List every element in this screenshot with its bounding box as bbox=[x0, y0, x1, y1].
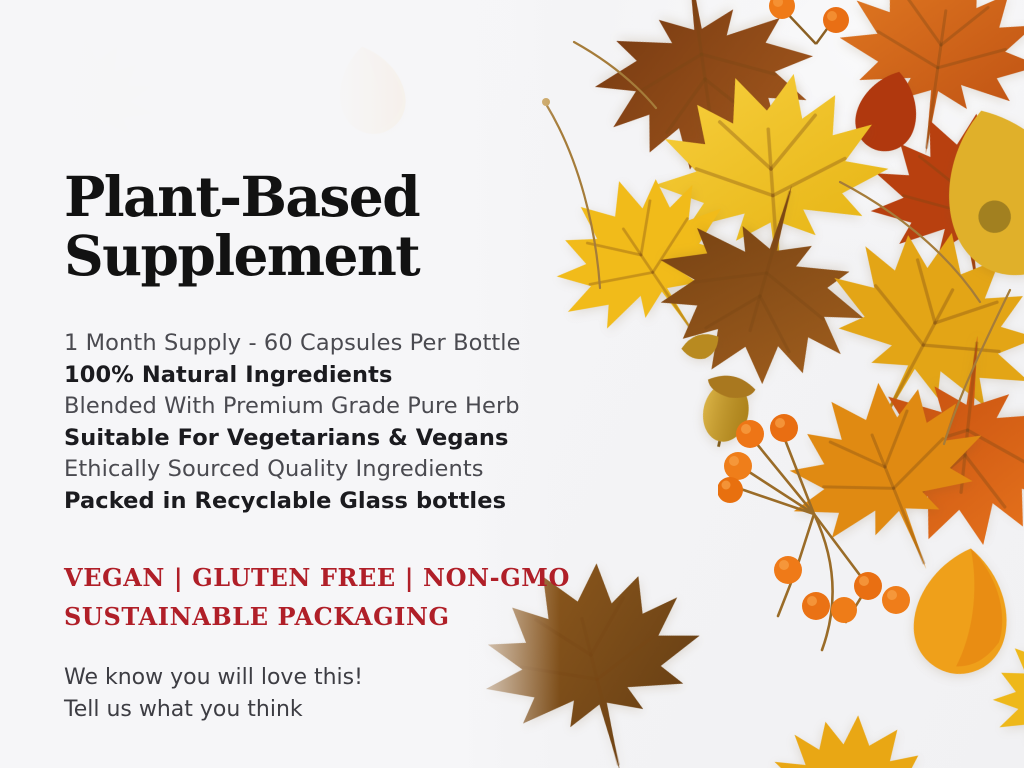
closing-line-2: Tell us what you think bbox=[64, 694, 554, 726]
copy-block: Plant-Based Supplement 1 Month Supply - … bbox=[64, 0, 564, 768]
list-item: Ethically Sourced Quality Ingredients bbox=[64, 454, 554, 486]
closing-line-1: We know you will love this! bbox=[64, 662, 554, 694]
list-item: 100% Natural Ingredients bbox=[64, 360, 554, 392]
closing-message: We know you will love this! Tell us what… bbox=[64, 662, 554, 726]
page-title: Plant-Based Supplement bbox=[64, 168, 534, 286]
list-item: Blended With Premium Grade Pure Herb bbox=[64, 391, 554, 423]
list-item: 1 Month Supply - 60 Capsules Per Bottle bbox=[64, 328, 554, 360]
claims-block: VEGAN | GLUTEN FREE | NON-GMO SUSTAINABL… bbox=[64, 558, 554, 636]
thin-stems bbox=[540, 40, 1024, 600]
headline-line-2: Supplement bbox=[64, 223, 419, 288]
feature-list: 1 Month Supply - 60 Capsules Per Bottle … bbox=[64, 328, 554, 517]
headline-line-1: Plant-Based bbox=[64, 164, 419, 229]
status-badge: SUSTAINABLE PACKAGING bbox=[64, 597, 554, 636]
list-item: Packed in Recyclable Glass bottles bbox=[64, 486, 554, 518]
list-item: Suitable For Vegetarians & Vegans bbox=[64, 423, 554, 455]
status-badge: VEGAN | GLUTEN FREE | NON-GMO bbox=[64, 558, 554, 597]
poster-canvas: Plant-Based Supplement 1 Month Supply - … bbox=[0, 0, 1024, 768]
